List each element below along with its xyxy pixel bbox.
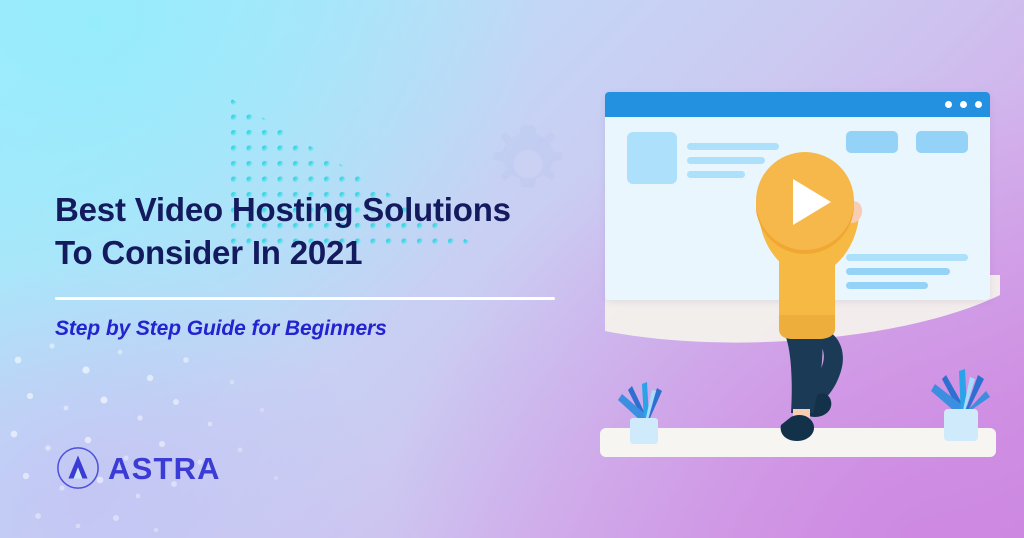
astra-a-circle-icon: [55, 445, 101, 491]
nav-button-placeholder[interactable]: [916, 131, 968, 153]
brand-logo[interactable]: ASTRA: [55, 445, 221, 491]
page-subtitle: Step by Step Guide for Beginners: [55, 317, 565, 341]
window-dot-icon: [960, 101, 967, 108]
dot-sprinkle-decoration: [0, 330, 360, 538]
title-divider: [55, 297, 555, 300]
thumbnail-placeholder: [627, 132, 677, 184]
headline-block: Best Video Hosting Solutions To Consider…: [55, 188, 565, 341]
hero-illustration: [560, 0, 1024, 538]
page-title: Best Video Hosting Solutions To Consider…: [55, 188, 565, 274]
browser-titlebar: [605, 92, 990, 117]
video-hosting-banner: Best Video Hosting Solutions To Consider…: [0, 0, 1024, 538]
play-icon[interactable]: [750, 148, 860, 258]
potted-plant-icon: [920, 345, 1002, 443]
brand-name: ASTRA: [108, 453, 221, 484]
window-dot-icon: [975, 101, 982, 108]
potted-plant-icon: [608, 360, 680, 444]
window-dot-icon: [945, 101, 952, 108]
